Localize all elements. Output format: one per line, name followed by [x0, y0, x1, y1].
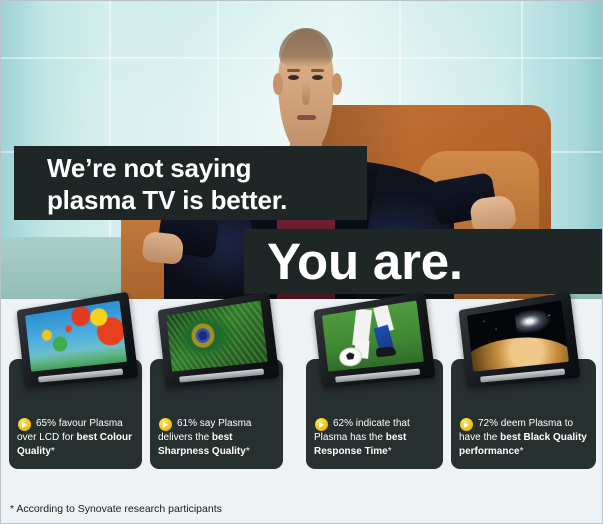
product-card-sharpness-quality[interactable]: 61% say Plasma delivers the best Sharpne…: [150, 359, 283, 469]
star: [549, 315, 550, 316]
headline-line-2: plasma TV is better.: [47, 184, 367, 216]
card-caption: 65% favour Plasma over LCD for best Colo…: [9, 363, 142, 469]
screen-art-earth-from-space: [467, 300, 569, 371]
star: [484, 321, 485, 322]
product-card-response-time[interactable]: 62% indicate that Plasma has the best Re…: [306, 359, 443, 469]
arrow-right-circle-icon: [159, 418, 172, 431]
card-caption: 62% indicate that Plasma has the best Re…: [306, 363, 443, 469]
player-boot: [376, 346, 397, 357]
headline-banner-primary: We’re not saying plasma TV is better.: [14, 146, 367, 220]
caption-text-plain: 61% say Plasma delivers the: [158, 418, 251, 443]
mouth: [297, 115, 316, 120]
tv-screen: [25, 300, 127, 371]
hand-right: [469, 194, 517, 234]
product-card-black-quality[interactable]: 72% deem Plasma to have the best Black Q…: [451, 359, 596, 469]
screen-art-peacock-feather: [166, 300, 268, 371]
headline-you-are: You are.: [267, 231, 603, 293]
arrow-right-circle-icon: [460, 418, 473, 431]
advertisement-banner: We’re not saying plasma TV is better. Yo…: [0, 0, 603, 524]
ear: [332, 73, 342, 95]
star: [535, 340, 536, 341]
screen-art-hot-air-balloons: [25, 300, 127, 371]
caption-footnote-mark: *: [388, 446, 392, 457]
caption-footnote-mark: *: [520, 446, 524, 457]
screen-art-soccer-player: [322, 300, 424, 371]
headline-line-1: We’re not saying: [47, 152, 367, 184]
star: [496, 328, 497, 329]
arrow-right-circle-icon: [18, 418, 31, 431]
eye: [312, 75, 323, 80]
tv-screen: [166, 300, 268, 371]
card-caption: 72% deem Plasma to have the best Black Q…: [451, 363, 596, 469]
tv-screen: [322, 300, 424, 371]
caption-footnote-mark: *: [246, 446, 250, 457]
sun-glow: [514, 306, 552, 335]
eye: [288, 75, 299, 80]
arrow-right-circle-icon: [315, 418, 328, 431]
eyebrow: [287, 69, 300, 72]
card-caption: 61% say Plasma delivers the best Sharpne…: [150, 363, 283, 469]
floor-left: [1, 237, 121, 299]
caption-footnote-mark: *: [51, 446, 55, 457]
nose: [302, 81, 310, 105]
product-strip: 65% favour Plasma over LCD for best Colo…: [1, 299, 603, 479]
footnote-disclaimer: * According to Synovate research partici…: [10, 503, 222, 515]
eyebrow: [311, 69, 324, 72]
ear: [273, 73, 283, 95]
hand-left: [142, 231, 185, 265]
product-card-colour-quality[interactable]: 65% favour Plasma over LCD for best Colo…: [9, 359, 142, 469]
tv-screen: [467, 300, 569, 371]
headline-banner-secondary: You are.: [244, 229, 603, 294]
